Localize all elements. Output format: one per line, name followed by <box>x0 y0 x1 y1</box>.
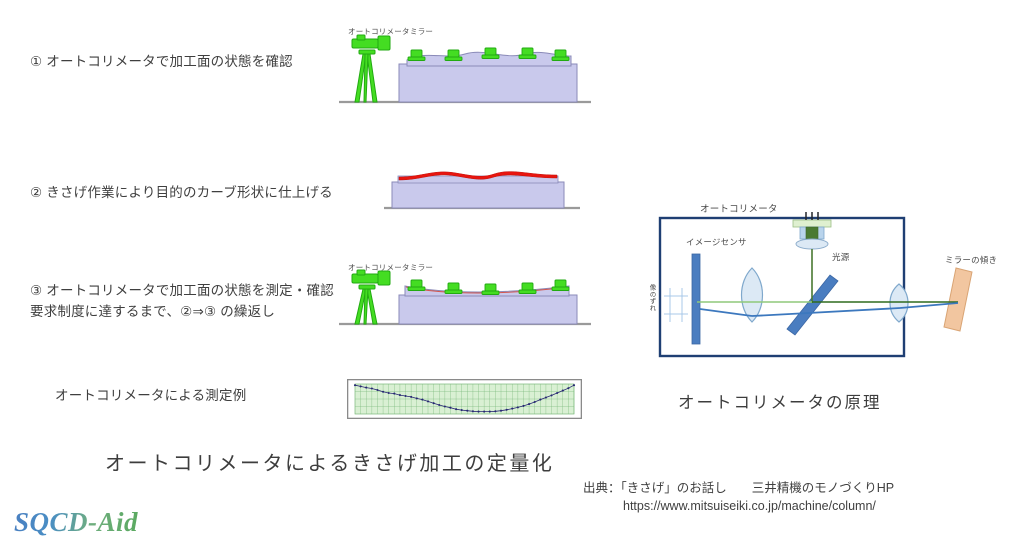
chart-data-point <box>455 408 457 410</box>
chart-data-point <box>421 399 423 401</box>
chart-data-point <box>562 390 564 392</box>
step-2-description: ② きさげ作業により目的のカーブ形状に仕上げる <box>30 183 340 204</box>
chart-data-point <box>517 406 519 408</box>
chart-data-point <box>539 399 541 401</box>
chart-data-point <box>466 410 468 412</box>
scene-2-svg <box>382 162 582 214</box>
chart-data-point <box>534 401 536 403</box>
mirror-tilt-label: ミラーの傾き <box>945 254 997 266</box>
autocollimator-icon <box>352 35 390 50</box>
step-3-description: ③ オートコリメータで加工面の状態を測定・確認 要求制度に達するまで、②⇒③ の… <box>30 281 350 323</box>
chart-data-point <box>399 394 401 396</box>
chart-data-point <box>472 410 474 412</box>
chart-data-point <box>528 403 530 405</box>
workpiece-base-block <box>392 182 564 208</box>
chart-data-point <box>522 405 524 407</box>
chart-data-point <box>371 387 373 389</box>
step-4-description: オートコリメータによる測定例 <box>55 386 345 407</box>
chart-data-point <box>360 385 362 387</box>
scene-3-mirror-label: ミラー <box>410 262 433 273</box>
scene-1-mirror-label: ミラー <box>410 26 433 37</box>
chart-data-point <box>393 393 395 395</box>
scene-1-svg <box>335 26 595 111</box>
step-1-description: ① オートコリメータで加工面の状態を確認 <box>30 52 330 73</box>
principle-caption: オートコリメータの原理 <box>678 389 882 413</box>
chart-plot-area <box>354 384 575 414</box>
tripod-icon <box>355 285 377 324</box>
chart-data-point <box>438 404 440 406</box>
chart-data-point <box>365 387 367 389</box>
light-source-label: 光源 <box>832 251 849 263</box>
chart-data-point <box>556 392 558 394</box>
step-3-illustration: オートコリメータ ミラー <box>335 262 595 332</box>
step-1-illustration: オートコリメータ ミラー <box>335 26 595 111</box>
chart-data-point <box>545 396 547 398</box>
page-title: オートコリメータによるきさげ加工の定量化 <box>105 447 554 476</box>
step-2-illustration <box>382 162 582 214</box>
chart-data-point <box>449 407 451 409</box>
chart-data-point <box>427 400 429 402</box>
chart-data-point <box>354 384 356 386</box>
scene-3-autocollimator-label: オートコリメータ <box>348 262 410 273</box>
source-url: https://www.mitsuiseiki.co.jp/machine/co… <box>583 497 894 515</box>
tripod-icon <box>355 50 377 102</box>
chart-data-point <box>461 409 463 411</box>
chart-data-point <box>444 405 446 407</box>
chart-data-point <box>494 410 496 412</box>
chart-data-point <box>433 402 435 404</box>
chart-data-point <box>416 397 418 399</box>
chart-data-point <box>410 396 412 398</box>
workpiece-base-block <box>399 64 577 102</box>
image-shift-label: 像のずれ <box>646 284 656 311</box>
scene-1-autocollimator-label: オートコリメータ <box>348 26 410 37</box>
workpiece-base-block <box>399 295 577 324</box>
external-mirror-icon <box>944 268 972 331</box>
image-sensor-label: イメージセンサ <box>686 236 747 248</box>
image-sensor-icon <box>692 254 700 344</box>
source-citation: 出典：「きさげ」のお話し 三井精機のモノづくりHP https://www.mi… <box>583 479 894 515</box>
chart-data-point <box>382 391 384 393</box>
sqcd-aid-logo: SQCD-Aid <box>14 507 138 538</box>
chart-data-point <box>404 395 406 397</box>
chart-data-point <box>388 392 390 394</box>
measurement-chart <box>347 379 582 419</box>
principle-diagram-svg <box>640 196 1024 376</box>
chart-data-point <box>506 409 508 411</box>
chart-data-point <box>489 411 491 413</box>
chart-data-point <box>511 408 513 410</box>
chart-data-point <box>477 411 479 413</box>
principle-device-label: オートコリメータ <box>700 201 778 215</box>
source-line-1: 出典：「きさげ」のお話し 三井精機のモノづくりHP <box>583 479 894 497</box>
chart-data-point <box>567 387 569 389</box>
measurement-chart-svg <box>347 379 582 419</box>
chart-data-point <box>376 389 378 391</box>
autocollimator-principle-diagram: オートコリメータ イメージセンサ 光源 ミラーの傾き 像のずれ <box>640 196 1024 376</box>
chart-data-point <box>500 410 502 412</box>
chart-data-point <box>550 394 552 396</box>
chart-data-point <box>483 411 485 413</box>
chart-data-point <box>573 384 575 386</box>
